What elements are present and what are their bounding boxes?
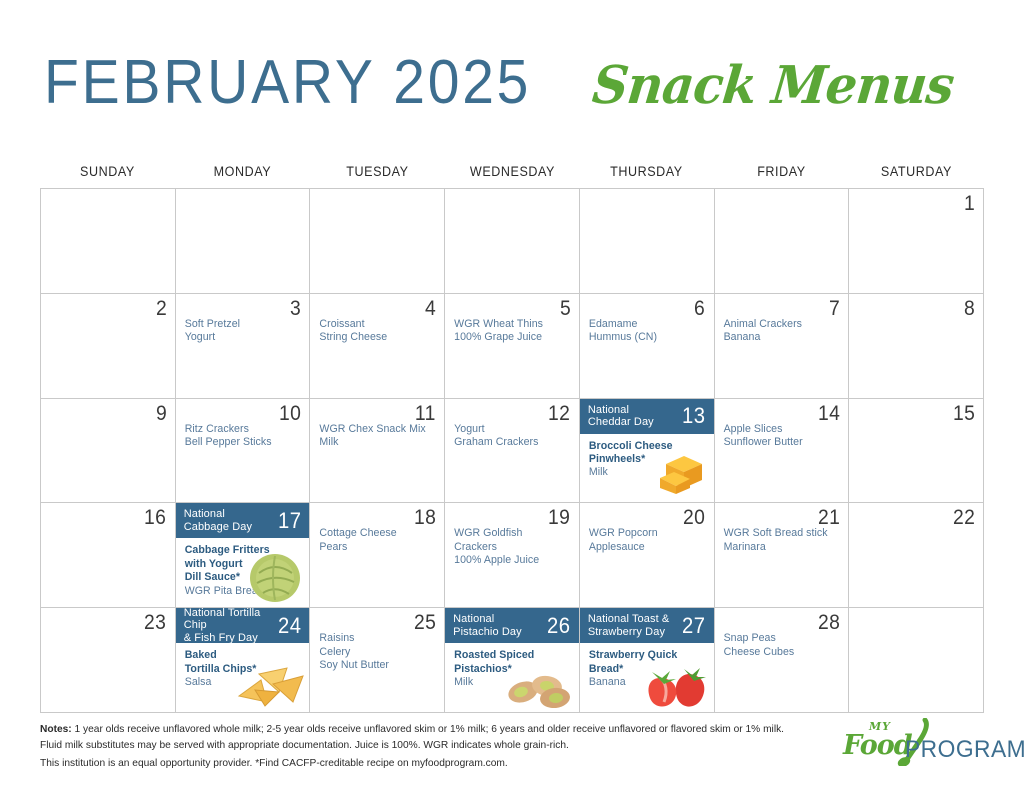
menu-featured-item: Bread*	[589, 663, 708, 676]
calendar-day-cell-13[interactable]: National Cheddar Day13Broccoli CheesePin…	[580, 399, 715, 504]
day-number: 24	[278, 615, 301, 637]
menu-items: BakedTortilla Chips*Salsa	[185, 649, 304, 689]
menu-featured-item: Dill Sauce*	[185, 571, 304, 584]
weekday-header-tuesday: TUESDAY	[314, 164, 439, 188]
title-subtitle: Snack Menus	[590, 60, 956, 112]
calendar-day-cell-19[interactable]: 19WGR GoldfishCrackers100% Apple Juice	[445, 503, 580, 608]
calendar-day-cell-20[interactable]: 20WGR PopcornApplesauce	[580, 503, 715, 608]
calendar-day-cell-14[interactable]: 14Apple SlicesSunflower Butter	[715, 399, 850, 504]
national-day-banner: National Tortilla Chip & Fish Fry Day24	[176, 608, 310, 643]
calendar-day-cell-6[interactable]: 6EdamameHummus (CN)	[580, 294, 715, 399]
menu-featured-item: Cabbage Fritters	[185, 544, 304, 557]
calendar-day-cell-12[interactable]: 12YogurtGraham Crackers	[445, 399, 580, 504]
day-number: 13	[682, 405, 705, 427]
day-number: 2	[155, 297, 166, 321]
menu-featured-item: Tortilla Chips*	[185, 663, 304, 676]
menu-item: Snap Peas	[724, 632, 843, 645]
calendar-day-cell-15[interactable]: 15	[849, 399, 984, 504]
my-food-program-logo: MY Food PROGRAM	[843, 718, 1003, 770]
calendar-empty-cell[interactable]	[580, 189, 715, 294]
calendar-empty-cell[interactable]	[849, 608, 984, 713]
day-number: 8	[964, 297, 975, 321]
menu-item: Banana	[724, 331, 843, 344]
menu-item: Milk	[319, 436, 438, 449]
menu-featured-item: Strawberry Quick	[589, 649, 708, 662]
notes-label: Notes:	[40, 724, 72, 735]
title-month-year: FEBRUARY 2025	[44, 52, 531, 114]
menu-item: WGR Goldfish	[454, 527, 573, 540]
menu-item: Croissant	[319, 318, 438, 331]
calendar-day-cell-1[interactable]: 1	[849, 189, 984, 294]
menu-item: Crackers	[454, 541, 573, 554]
menu-item: Banana	[589, 676, 708, 689]
menu-item: Yogurt	[454, 423, 573, 436]
day-number: 26	[547, 615, 570, 637]
day-number: 16	[144, 506, 166, 530]
menu-item: Raisins	[319, 632, 438, 645]
calendar-day-cell-3[interactable]: 3Soft PretzelYogurt	[176, 294, 311, 399]
national-day-label: National Cabbage Day	[184, 508, 252, 533]
menu-item: Soy Nut Butter	[319, 659, 438, 672]
menu-item: Soft Pretzel	[185, 318, 304, 331]
weekday-header-wednesday: WEDNESDAY	[449, 164, 574, 188]
calendar-day-cell-2[interactable]: 2	[41, 294, 176, 399]
menu-items: Broccoli CheesePinwheels*Milk	[589, 440, 708, 480]
menu-items: Apple SlicesSunflower Butter	[724, 423, 843, 450]
menu-items: WGR GoldfishCrackers100% Apple Juice	[454, 527, 573, 567]
menu-featured-item: Pinwheels*	[589, 453, 708, 466]
calendar-day-cell-8[interactable]: 8	[849, 294, 984, 399]
calendar-empty-cell[interactable]	[176, 189, 311, 294]
weekday-header-thursday: THURSDAY	[584, 164, 709, 188]
national-day-label: National Toast & Strawberry Day	[588, 613, 670, 638]
calendar-empty-cell[interactable]	[715, 189, 850, 294]
menu-items: RaisinsCelerySoy Nut Butter	[319, 632, 438, 672]
menu-item: Apple Slices	[724, 423, 843, 436]
menu-item: Marinara	[724, 541, 843, 554]
menu-item: WGR Chex Snack Mix	[319, 423, 438, 436]
menu-item: Sunflower Butter	[724, 436, 843, 449]
menu-item: WGR Wheat Thins	[454, 318, 573, 331]
day-number: 1	[964, 192, 975, 216]
menu-item: Hummus (CN)	[589, 331, 708, 344]
menu-item: Salsa	[185, 676, 304, 689]
calendar-day-cell-23[interactable]: 23	[41, 608, 176, 713]
national-day-label: National Pistachio Day	[453, 613, 522, 638]
menu-items: Snap PeasCheese Cubes	[724, 632, 843, 659]
menu-featured-item: Baked	[185, 649, 304, 662]
menu-item: Bell Pepper Sticks	[185, 436, 304, 449]
menu-featured-item: Roasted Spiced	[454, 649, 573, 662]
day-number: 27	[682, 615, 705, 637]
weekday-header-friday: FRIDAY	[719, 164, 844, 188]
notes-line-2: This institution is an equal opportunity…	[40, 756, 785, 772]
weekday-header-sunday: SUNDAY	[45, 164, 170, 188]
menu-items: EdamameHummus (CN)	[589, 318, 708, 345]
menu-items: WGR Chex Snack MixMilk	[319, 423, 438, 450]
menu-item: 100% Apple Juice	[454, 554, 573, 567]
menu-featured-item: Pistachios*	[454, 663, 573, 676]
menu-items: Ritz CrackersBell Pepper Sticks	[185, 423, 304, 450]
national-day-banner: National Pistachio Day26	[445, 608, 579, 643]
day-number: 22	[953, 506, 975, 530]
menu-item: 100% Grape Juice	[454, 331, 573, 344]
calendar-day-cell-18[interactable]: 18Cottage CheesePears	[310, 503, 445, 608]
day-number: 15	[953, 402, 975, 426]
day-number: 9	[155, 402, 166, 426]
menu-items: Cottage CheesePears	[319, 527, 438, 554]
menu-item: WGR Popcorn	[589, 527, 708, 540]
day-number: 17	[278, 510, 301, 532]
menu-item: WGR Soft Bread stick	[724, 527, 843, 540]
menu-item: Cheese Cubes	[724, 646, 843, 659]
menu-item: Pears	[319, 541, 438, 554]
calendar-day-cell-21[interactable]: 21WGR Soft Bread stickMarinara	[715, 503, 850, 608]
menu-items: Animal CrackersBanana	[724, 318, 843, 345]
menu-items: Cabbage Fritterswith YogurtDill Sauce*WG…	[185, 544, 304, 598]
national-day-banner: National Toast & Strawberry Day27	[580, 608, 714, 643]
calendar-day-cell-11[interactable]: 11WGR Chex Snack MixMilk	[310, 399, 445, 504]
notes-line-1: 1 year olds receive unflavored whole mil…	[40, 724, 784, 751]
weekday-header-row: SUNDAYMONDAYTUESDAYWEDNESDAYTHURSDAYFRID…	[40, 164, 984, 188]
page-title: FEBRUARY 2025 Snack Menus	[44, 52, 984, 124]
calendar-day-cell-10[interactable]: 10Ritz CrackersBell Pepper Sticks	[176, 399, 311, 504]
calendar-day-cell-17[interactable]: National Cabbage Day17Cabbage Fritterswi…	[176, 503, 311, 608]
calendar-day-cell-4[interactable]: 4CroissantString Cheese	[310, 294, 445, 399]
menu-item: Graham Crackers	[454, 436, 573, 449]
national-day-banner: National Cheddar Day13	[580, 399, 714, 434]
calendar-empty-cell[interactable]	[41, 189, 176, 294]
menu-item: Edamame	[589, 318, 708, 331]
menu-items: WGR Wheat Thins100% Grape Juice	[454, 318, 573, 345]
footer-notes: Notes: 1 year olds receive unflavored wh…	[40, 722, 785, 772]
calendar-day-cell-26[interactable]: National Pistachio Day26Roasted SpicedPi…	[445, 608, 580, 713]
menu-items: YogurtGraham Crackers	[454, 423, 573, 450]
menu-item: String Cheese	[319, 331, 438, 344]
menu-item: Yogurt	[185, 331, 304, 344]
national-day-label: National Tortilla Chip & Fish Fry Day	[184, 608, 277, 644]
menu-item: Animal Crackers	[724, 318, 843, 331]
menu-item: Milk	[589, 466, 708, 479]
menu-items: WGR PopcornApplesauce	[589, 527, 708, 554]
weekday-header-saturday: SATURDAY	[854, 164, 979, 188]
calendar-page: FEBRUARY 2025 Snack Menus SUNDAYMONDAYTU…	[0, 0, 1024, 791]
calendar-day-cell-7[interactable]: 7Animal CrackersBanana	[715, 294, 850, 399]
calendar-empty-cell[interactable]	[445, 189, 580, 294]
national-day-label: National Cheddar Day	[588, 404, 654, 429]
menu-item: Cottage Cheese	[319, 527, 438, 540]
calendar-day-cell-5[interactable]: 5WGR Wheat Thins100% Grape Juice	[445, 294, 580, 399]
menu-items: CroissantString Cheese	[319, 318, 438, 345]
calendar-day-cell-27[interactable]: National Toast & Strawberry Day27Strawbe…	[580, 608, 715, 713]
menu-items: Strawberry QuickBread*Banana	[589, 649, 708, 689]
calendar-day-cell-9[interactable]: 9	[41, 399, 176, 504]
menu-items: Soft PretzelYogurt	[185, 318, 304, 345]
menu-items: WGR Soft Bread stickMarinara	[724, 527, 843, 554]
menu-item: Applesauce	[589, 541, 708, 554]
weekday-header-monday: MONDAY	[180, 164, 305, 188]
calendar-day-cell-16[interactable]: 16	[41, 503, 176, 608]
calendar-day-cell-25[interactable]: 25RaisinsCelerySoy Nut Butter	[310, 608, 445, 713]
calendar-empty-cell[interactable]	[310, 189, 445, 294]
menu-items: Roasted SpicedPistachios*Milk	[454, 649, 573, 689]
menu-item: Ritz Crackers	[185, 423, 304, 436]
menu-item: WGR Pita Bread	[185, 585, 304, 598]
logo-program-text: PROGRAM	[905, 736, 1024, 764]
national-day-banner: National Cabbage Day17	[176, 503, 310, 538]
menu-item: Celery	[319, 646, 438, 659]
menu-featured-item: with Yogurt	[185, 558, 304, 571]
calendar-day-cell-22[interactable]: 22	[849, 503, 984, 608]
menu-featured-item: Broccoli Cheese	[589, 440, 708, 453]
calendar-day-cell-28[interactable]: 28Snap PeasCheese Cubes	[715, 608, 850, 713]
day-number: 23	[144, 611, 166, 635]
calendar-day-cell-24[interactable]: National Tortilla Chip & Fish Fry Day24B…	[176, 608, 311, 713]
calendar-grid: 123Soft PretzelYogurt4CroissantString Ch…	[40, 188, 984, 713]
logo-food-text: Food	[843, 730, 912, 761]
menu-item: Milk	[454, 676, 573, 689]
